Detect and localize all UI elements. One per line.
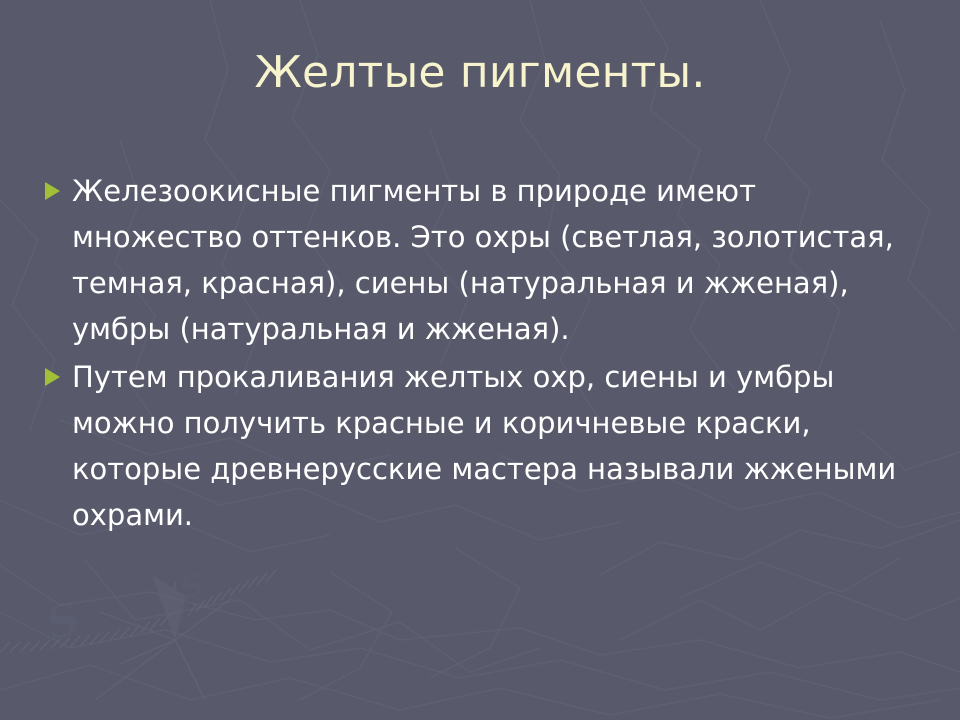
svg-text:S: S: [176, 567, 209, 608]
slide-body-content: Железоокисные пигменты в природе имеют м…: [42, 168, 918, 540]
bullet-marker: [42, 168, 72, 200]
list-item: Путем прокаливания желтых охр, сиены и у…: [42, 354, 918, 538]
presentation-slide: S S Желтые пигменты. Железоокисные пигме…: [0, 0, 960, 720]
list-item-text: Путем прокаливания желтых охр, сиены и у…: [72, 354, 918, 538]
bullet-marker: [42, 354, 72, 386]
list-item-text: Железоокисные пигменты в природе имеют м…: [72, 168, 918, 352]
triangle-right-icon: [45, 368, 60, 386]
svg-text:S: S: [41, 593, 86, 651]
page-title: Желтые пигменты.: [60, 48, 900, 99]
list-item: Железоокисные пигменты в природе имеют м…: [42, 168, 918, 352]
slide-title-block: Желтые пигменты.: [60, 48, 900, 99]
triangle-right-icon: [45, 182, 60, 200]
compass-rose-decoration: S S: [0, 567, 276, 700]
